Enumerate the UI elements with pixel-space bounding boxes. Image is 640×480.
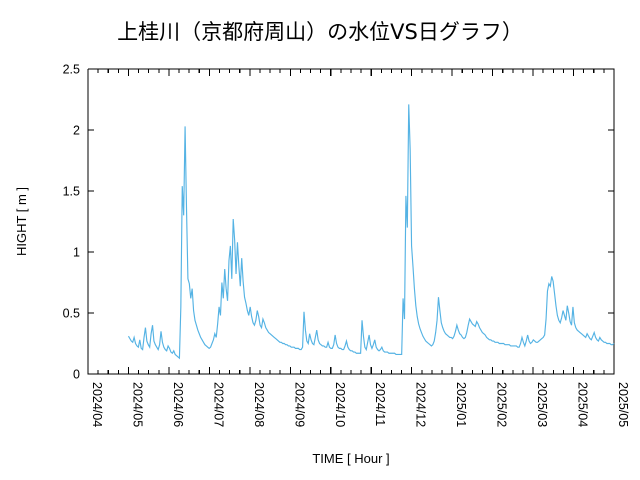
x-tick-label: 2024/07 [211, 382, 225, 427]
y-tick-label: 2.5 [63, 63, 80, 77]
x-tick-label: 2025/04 [576, 382, 590, 427]
y-tick-label: 1 [73, 246, 80, 260]
data-series-group [128, 104, 614, 358]
x-tick-label: 2024/12 [414, 382, 428, 427]
x-tick-label: 2024/08 [252, 382, 266, 427]
axes-group [88, 69, 614, 374]
x-tick-label: 2024/10 [333, 382, 347, 427]
y-tick-label: 0.5 [63, 307, 80, 321]
x-tick-label: 2025/03 [535, 382, 549, 427]
axis-labels-group: 00.511.522.52024/042024/052024/062024/07… [14, 63, 630, 467]
y-axis-title: HIGHT [ m ] [14, 187, 29, 256]
water-level-line [128, 104, 614, 358]
plot-frame [88, 69, 614, 374]
x-tick-label: 2024/11 [373, 382, 387, 426]
x-tick-label: 2025/01 [454, 382, 468, 427]
line-chart-plot: 00.511.522.52024/042024/052024/062024/07… [0, 0, 640, 480]
y-tick-label: 0 [73, 368, 80, 382]
x-tick-label: 2024/09 [292, 382, 306, 427]
x-tick-label: 2024/05 [130, 382, 144, 427]
x-tick-label: 2024/06 [171, 382, 185, 427]
chart-figure: 上桂川（京都府周山）の水位VS日グラフ） 00.511.522.52024/04… [0, 0, 640, 480]
x-tick-label: 2025/05 [616, 382, 630, 427]
x-axis-title: TIME [ Hour ] [312, 451, 389, 466]
x-tick-label: 2025/02 [495, 382, 509, 427]
y-tick-label: 1.5 [63, 185, 80, 199]
x-tick-label: 2024/04 [90, 382, 104, 427]
y-tick-label: 2 [73, 124, 80, 138]
